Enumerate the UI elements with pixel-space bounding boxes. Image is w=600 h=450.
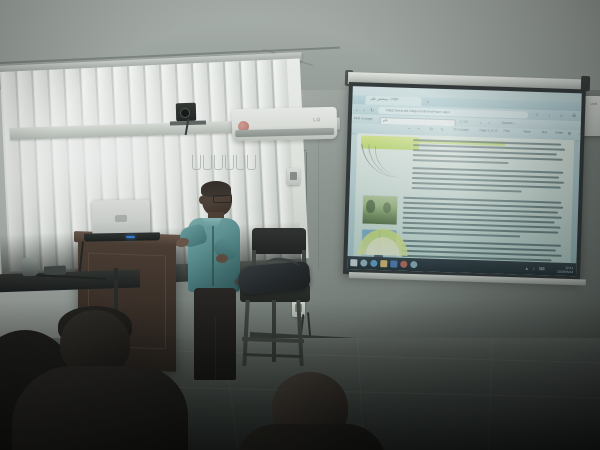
print-button[interactable]: Print [503, 129, 510, 133]
find-match-count: 1 / 24 [460, 119, 468, 123]
coat-hook [203, 155, 212, 170]
save-button[interactable]: Save [523, 130, 530, 134]
projected-browser-window[interactable]: سنجش علم - PDF + ‹ › ↻ https://www.sid.i… [347, 86, 582, 276]
audience-member-body [12, 366, 188, 450]
bar-stool [232, 228, 316, 370]
clock-date: 2019/05/14 [557, 269, 573, 273]
coat-hook [247, 155, 256, 170]
draw-tool-button[interactable]: Draw [555, 131, 563, 135]
laptop-power-led-icon [126, 236, 135, 238]
fit-page-button[interactable]: Fit to page [453, 128, 468, 132]
browser-taskbar-icon[interactable] [370, 260, 377, 267]
laptop-logo [115, 215, 127, 222]
laptop-screen[interactable] [92, 199, 151, 236]
coat-hook [236, 155, 245, 170]
find-nav-arrows[interactable]: ‹ › [480, 120, 493, 125]
glasses-icon [213, 195, 232, 203]
coat-hook [214, 155, 223, 170]
forward-icon[interactable]: › [363, 107, 365, 112]
coat-hook-rail [192, 155, 254, 171]
app-taskbar-icon[interactable] [410, 261, 417, 268]
ac-vent [235, 128, 334, 137]
outlet-socket-icon [290, 172, 297, 180]
menu-icon[interactable]: ☰ [572, 113, 576, 119]
explorer-taskbar-icon[interactable] [380, 260, 387, 267]
projection-screen[interactable]: سنجش علم - PDF + ‹ › ↻ https://www.sid.i… [343, 82, 586, 281]
word-taskbar-icon[interactable] [390, 260, 397, 267]
stool-backrest [252, 228, 306, 254]
presenter-right-hand [216, 254, 228, 263]
rotate-icon[interactable]: ↻ [429, 127, 433, 132]
taskbar-clock[interactable]: 12:41 2019/05/14 [557, 265, 573, 273]
air-conditioner: LG [232, 107, 338, 142]
stool-leg [272, 300, 276, 362]
wall-panel-line [318, 140, 319, 270]
trouser-seam [215, 318, 217, 380]
ac-brand-label: LG [313, 117, 321, 123]
media-taskbar-icon[interactable] [400, 261, 407, 268]
presenter-trousers [194, 288, 236, 380]
doc-text-line [402, 232, 520, 237]
lecture-hall-photo: LG unit [0, 0, 600, 450]
start-button-icon[interactable] [350, 259, 357, 266]
audience-member-body [236, 424, 386, 450]
back-icon[interactable]: ‹ [356, 107, 358, 112]
page-indicator: Page 1 of 12 [479, 129, 497, 134]
camera-device [176, 103, 196, 122]
more-options-icon[interactable]: ⋯ [577, 131, 581, 136]
zoom-out-icon[interactable]: − [407, 126, 410, 131]
search-icon[interactable] [360, 259, 367, 266]
zoom-in-icon[interactable]: + [417, 126, 420, 131]
gear-icon[interactable]: ⚙ [567, 131, 571, 136]
browser-tab-title: سنجش علم - PDF [370, 97, 398, 102]
star-icon[interactable]: ☆ [535, 112, 539, 118]
find-bar-label: Find on page [354, 116, 373, 121]
find-input-value: علم [383, 118, 388, 122]
download-icon[interactable]: ↓ [548, 112, 550, 117]
pdf-document-page[interactable] [354, 133, 575, 263]
coat-hook [225, 155, 234, 170]
wall-outlet[interactable] [287, 168, 300, 185]
text-tool-button[interactable]: Text [541, 130, 547, 134]
find-options-button[interactable]: Options ⌄ [502, 121, 517, 125]
presenter-ear [199, 196, 205, 204]
projection-surface: سنجش علم - PDF + ‹ › ↻ https://www.sid.i… [347, 86, 582, 276]
doc-text-line [413, 159, 509, 164]
reload-icon[interactable]: ↻ [370, 107, 374, 113]
coat-hook [192, 155, 201, 170]
home-icon[interactable]: ⌂ [560, 113, 563, 118]
select-tool-icon[interactable]: ↖ [440, 127, 444, 132]
doc-text-line [412, 187, 522, 192]
right-wall-unit-label: unit [591, 101, 597, 106]
address-bar-url: https://www.sid.ir/fa/journal/ViewPaper.… [386, 108, 450, 114]
new-tab-button[interactable]: + [426, 99, 429, 105]
shirt-placket [212, 226, 214, 286]
laptop-keyboard-base[interactable] [84, 232, 160, 241]
doc-figure-landscape [363, 196, 398, 225]
camera-lens-icon [180, 108, 190, 118]
system-tray-icons[interactable]: ▲ ♪ ⌨ [525, 266, 547, 272]
